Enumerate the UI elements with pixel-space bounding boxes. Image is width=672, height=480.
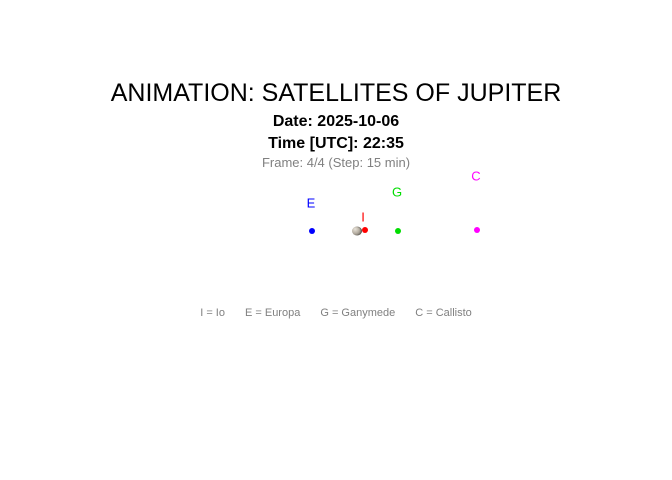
legend-entry: I = Io <box>200 307 225 319</box>
legend-entry: C = Callisto <box>415 307 472 319</box>
moon-label-ganymede: G <box>392 186 402 199</box>
moon-dot-callisto <box>474 227 480 233</box>
sky-plot-area: EIGC <box>0 0 672 480</box>
moon-label-io: I <box>361 211 365 224</box>
legend: I = IoE = EuropaG = GanymedeC = Callisto <box>0 308 672 319</box>
moon-dot-europa <box>309 228 315 234</box>
moon-label-europa: E <box>307 197 316 210</box>
animation-figure: ANIMATION: SATELLITES OF JUPITER Date: 2… <box>0 0 672 480</box>
jupiter-disk <box>352 227 362 236</box>
moon-label-callisto: C <box>471 170 480 183</box>
legend-entry: G = Ganymede <box>320 307 395 319</box>
moon-dot-ganymede <box>395 228 401 234</box>
moon-dot-io <box>362 227 368 233</box>
legend-entry: E = Europa <box>245 307 300 319</box>
